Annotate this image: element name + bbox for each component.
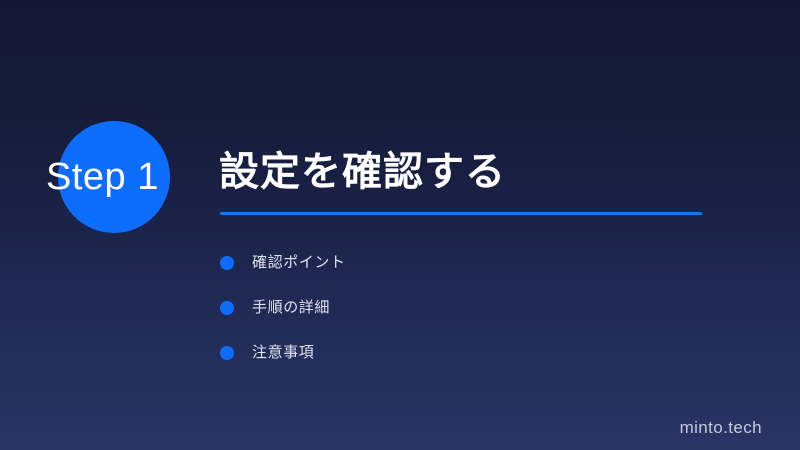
slide-title: 設定を確認する	[219, 146, 506, 198]
bullet-list: 確認ポイント 手順の詳細 注意事項	[220, 240, 700, 375]
list-item: 手順の詳細	[220, 285, 700, 330]
bullet-item-label: 手順の詳細	[252, 297, 330, 319]
bullet-dot-icon	[220, 346, 234, 360]
footer-brand-label: minto.tech	[680, 418, 762, 438]
bullet-item-label: 注意事項	[252, 342, 314, 364]
presentation-slide: Step 1 設定を確認する 確認ポイント 手順の詳細 注意事項 minto.t…	[0, 0, 800, 450]
list-item: 注意事項	[220, 330, 700, 375]
bullet-dot-icon	[220, 301, 234, 315]
list-item: 確認ポイント	[220, 240, 700, 285]
bullet-dot-icon	[220, 256, 234, 270]
bullet-item-label: 確認ポイント	[252, 252, 346, 274]
title-divider	[220, 212, 702, 215]
step-number-label: Step 1	[46, 152, 226, 202]
